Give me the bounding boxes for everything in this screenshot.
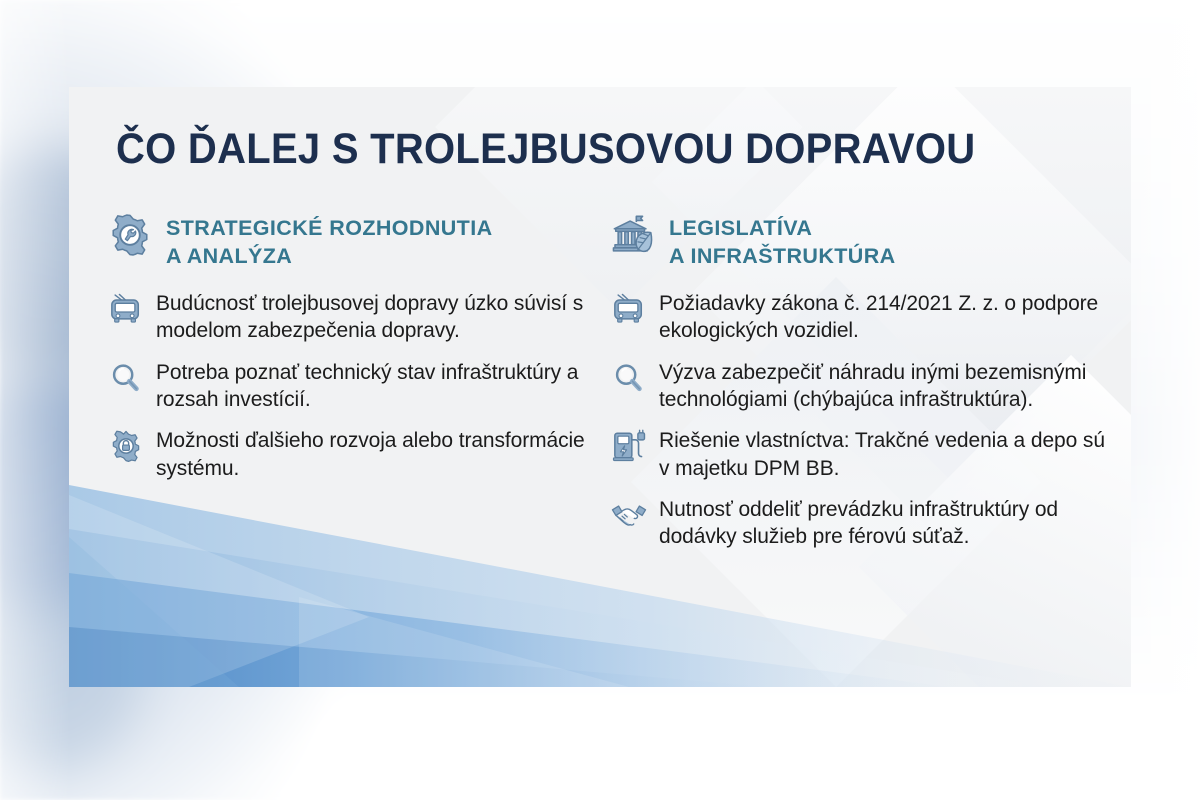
list-item: Požiadavky zákona č. 214/2021 Z. z. o po…	[610, 290, 1113, 345]
handshake-icon	[610, 498, 648, 532]
list-item: Potreba poznať technický stav infraštruk…	[107, 359, 593, 414]
gear-lock-icon	[107, 429, 145, 463]
bullet-list-strategic: Budúcnosť trolejbusovej dopravy úzko súv…	[107, 290, 593, 482]
column-header-label: STRATEGICKÉ ROZHODNUTIA A ANALÝZA	[166, 215, 493, 270]
ev-charger-icon	[610, 429, 648, 463]
list-item: Nutnosť oddeliť prevádzku infraštruktúry…	[610, 496, 1113, 551]
trolleybus-icon	[107, 292, 145, 326]
list-item-text: Požiadavky zákona č. 214/2021 Z. z. o po…	[659, 290, 1113, 345]
column-header-legislation: LEGISLATÍVA A INFRAŠTRUKTÚRA	[610, 215, 1113, 270]
column-legislation: LEGISLATÍVA A INFRAŠTRUKTÚRA	[593, 215, 1113, 564]
column-header-strategic: STRATEGICKÉ ROZHODNUTIA A ANALÝZA	[107, 215, 593, 270]
list-item-text: Budúcnosť trolejbusovej dopravy úzko súv…	[156, 290, 593, 345]
list-item-text: Riešenie vlastníctva: Trakčné vedenia a …	[659, 427, 1113, 482]
column-strategic: STRATEGICKÉ ROZHODNUTIA A ANALÝZA	[69, 215, 593, 564]
bullet-list-legislation: Požiadavky zákona č. 214/2021 Z. z. o po…	[610, 290, 1113, 550]
magnifier-icon	[107, 361, 145, 395]
page-title: ČO ĎALEJ S TROLEJBUSOVOU DOPRAVOU	[116, 125, 975, 174]
gear-wrench-icon	[107, 212, 153, 258]
list-item: Výzva zabezpečiť náhradu inými bezemisný…	[610, 359, 1113, 414]
list-item-text: Potreba poznať technický stav infraštruk…	[156, 359, 593, 414]
list-item: Budúcnosť trolejbusovej dopravy úzko súv…	[107, 290, 593, 345]
trolleybus-icon	[610, 292, 648, 326]
magnifier-icon	[610, 361, 648, 395]
bank-leaf-icon	[610, 212, 656, 258]
list-item: Možnosti ďalšieho rozvoja alebo transfor…	[107, 427, 593, 482]
list-item-text: Nutnosť oddeliť prevádzku infraštruktúry…	[659, 496, 1113, 551]
list-item: Riešenie vlastníctva: Trakčné vedenia a …	[610, 427, 1113, 482]
column-header-label: LEGISLATÍVA A INFRAŠTRUKTÚRA	[669, 215, 896, 270]
list-item-text: Možnosti ďalšieho rozvoja alebo transfor…	[156, 427, 593, 482]
columns-container: STRATEGICKÉ ROZHODNUTIA A ANALÝZA	[69, 215, 1131, 564]
list-item-text: Výzva zabezpečiť náhradu inými bezemisný…	[659, 359, 1113, 414]
infographic-card: ČO ĎALEJ S TROLEJBUSOVOU DOPRAVOU	[69, 87, 1131, 687]
